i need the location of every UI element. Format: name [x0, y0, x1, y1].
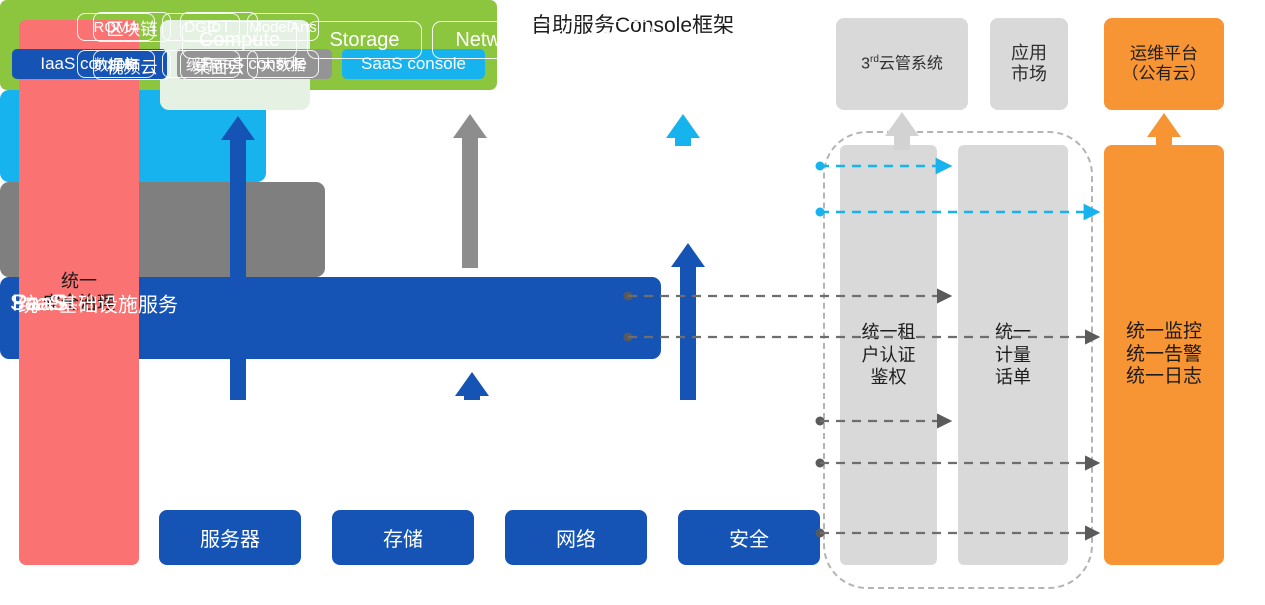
arrow-paas-to-console [453, 114, 487, 268]
paas-tile-database-label: 数据库 [93, 54, 138, 75]
unified-monitoring-column[interactable]: 统一监控 统一告警 统一日志 [1104, 145, 1224, 565]
third-party-cloud-rest: 云管系统 [879, 55, 943, 72]
hardware-box-storage-label: 存储 [383, 523, 423, 552]
iaas-tile-storage[interactable]: Storage [307, 21, 422, 59]
architecture-diagram: 统一 安全治理 API网关 自助服务Console框架 IaaS console… [0, 0, 1265, 605]
hardware-box-security[interactable]: 安全 [678, 510, 820, 565]
third-party-cloud-ordinal: rd [870, 54, 879, 65]
ops-platform-label: 运维平台 （公有云） [1122, 44, 1207, 84]
unified-monitoring-label: 统一监控 统一告警 统一日志 [1126, 321, 1202, 388]
arrow-iaas-to-saas [671, 243, 705, 400]
app-market-box[interactable]: 应用 市场 [990, 18, 1068, 110]
third-party-cloud-label: 3rd云管系统 [861, 54, 943, 74]
unified-tenant-auth-column[interactable]: 统一租 户认证 鉴权 [840, 145, 937, 565]
unified-metering-billing-column[interactable]: 统一 计量 话单 [958, 145, 1068, 565]
iaas-tile-cce-label: CCE [586, 29, 628, 52]
hardware-box-network-label: 网络 [556, 523, 596, 552]
arrow-saas-to-console [666, 114, 700, 146]
iaas-tile-cce[interactable]: CCE [562, 21, 652, 59]
iaas-layer-name: 统一基础设施服务 [18, 288, 178, 317]
hardware-box-security-label: 安全 [729, 523, 769, 552]
arrow-ops-column-to-ops-platform [1147, 113, 1181, 148]
iaas-tile-network-label: Network [455, 29, 528, 52]
paas-tile-roma[interactable]: ROMA [77, 13, 155, 41]
arrow-iaas-to-paas [455, 372, 489, 400]
app-market-label: 应用 市场 [1011, 43, 1047, 85]
unified-metering-billing-label: 统一 计量 话单 [995, 321, 1031, 389]
paas-tile-roma-label: ROMA [94, 19, 139, 36]
ops-platform-box[interactable]: 运维平台 （公有云） [1104, 18, 1224, 110]
unified-tenant-auth-label: 统一租 户认证 鉴权 [862, 321, 916, 389]
paas-tile-database[interactable]: 数据库 [77, 50, 155, 78]
hardware-box-server-label: 服务器 [200, 523, 260, 552]
third-party-cloud-number: 3 [861, 55, 870, 72]
hardware-box-network[interactable]: 网络 [505, 510, 647, 565]
hardware-box-server[interactable]: 服务器 [159, 510, 301, 565]
hardware-box-storage[interactable]: 存储 [332, 510, 474, 565]
iaas-tile-compute[interactable]: Compute [182, 21, 297, 59]
iaas-tile-storage-label: Storage [329, 29, 399, 52]
third-party-cloud-management-box[interactable]: 3rd云管系统 [836, 18, 968, 110]
iaas-tile-network[interactable]: Network [432, 21, 552, 59]
iaas-tile-compute-label: Compute [199, 29, 280, 52]
